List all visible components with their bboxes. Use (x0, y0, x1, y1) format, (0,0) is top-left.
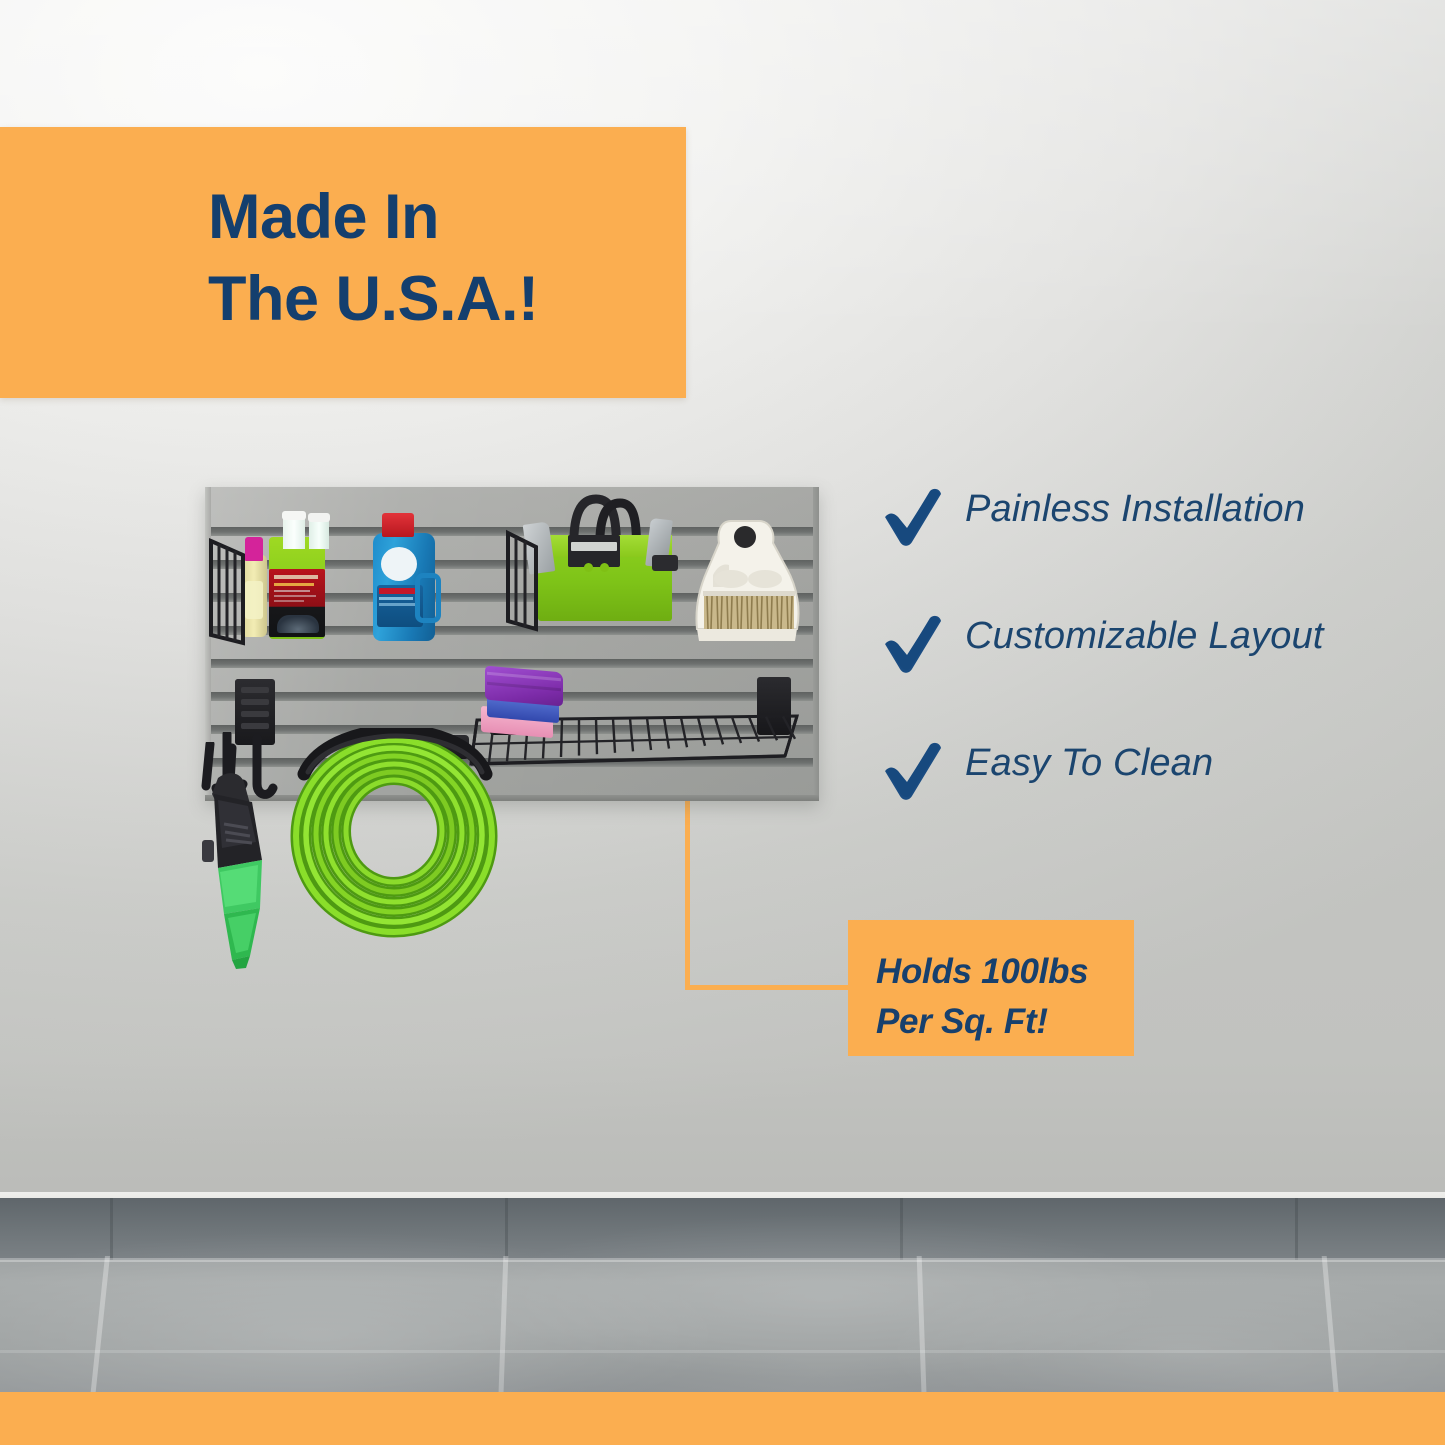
handheld-vacuum (184, 742, 294, 970)
feature-list: Painless Installation Customizable Layou… (880, 482, 1350, 863)
dustpan-with-brush (683, 517, 811, 657)
feature-item-painless-installation: Painless Installation (880, 482, 1350, 609)
panel-right-edge (813, 487, 819, 801)
feature-item-customizable-layout: Customizable Layout (880, 609, 1350, 736)
dustpan-hang-hole (734, 526, 756, 548)
product-marketing-image: Made In The U.S.A.! Painless Installatio… (0, 0, 1445, 1445)
check-icon (880, 740, 946, 802)
wire-basket-right (520, 495, 710, 645)
wire-basket-left (225, 509, 475, 644)
microfiber-towel-purple (485, 666, 563, 707)
feature-item-easy-to-clean: Easy To Clean (880, 736, 1350, 863)
bottle-cap (308, 513, 330, 522)
jug-cap (382, 513, 414, 537)
feature-label: Painless Installation (965, 488, 1305, 531)
callout-leader-vertical (685, 800, 690, 990)
garden-hose-coil (288, 728, 500, 938)
vacuum-switch (202, 840, 214, 862)
check-icon (880, 613, 946, 675)
feature-label: Customizable Layout (965, 615, 1324, 658)
basket-side-panel (209, 531, 249, 646)
feature-label: Easy To Clean (965, 742, 1213, 785)
made-in-usa-banner: Made In The U.S.A.! (0, 127, 686, 398)
banner-headline: Made In The U.S.A.! (208, 177, 539, 341)
callout-text: Holds 100lbs Per Sq. Ft! (876, 947, 1088, 1046)
check-icon (880, 486, 946, 548)
twin-neck-bottle-left (283, 515, 305, 549)
callout-leader-horizontal (685, 985, 851, 990)
basket-side-panel (506, 521, 542, 633)
dustpan-bristles (704, 596, 794, 629)
bottom-orange-bar (0, 1392, 1445, 1445)
weight-capacity-callout: Holds 100lbs Per Sq. Ft! (848, 920, 1134, 1056)
bottle-cap (282, 511, 306, 520)
slat-groove (205, 659, 819, 668)
